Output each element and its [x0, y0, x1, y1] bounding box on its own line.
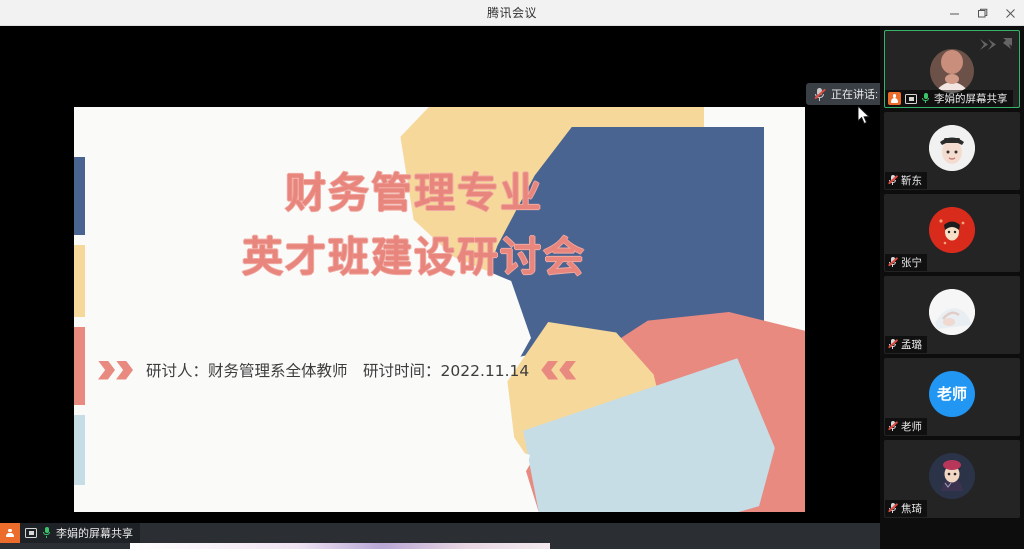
desktop-wallpaper-strip: [130, 543, 550, 549]
mic-muted-icon: [888, 421, 897, 433]
person-host-icon: [888, 92, 901, 105]
color-bar-gap: [74, 317, 85, 327]
color-bar-coral: [74, 327, 85, 405]
mic-on-icon: [921, 93, 930, 105]
windows-taskbar: 李娟的屏幕共享: [0, 523, 880, 549]
participant-tile[interactable]: 李娟的屏幕共享: [884, 30, 1020, 108]
maximize-button[interactable]: [968, 0, 996, 26]
avatar: [929, 453, 975, 499]
avatar: [929, 207, 975, 253]
participant-namebar: 老师: [885, 418, 927, 435]
chevron-left-icon: [541, 361, 558, 380]
participant-name: 焦琦: [901, 501, 922, 516]
participant-tile[interactable]: 焦琦: [884, 440, 1020, 518]
monitor-share-icon: [905, 94, 917, 104]
window-controls: [940, 0, 1024, 26]
close-button[interactable]: [996, 0, 1024, 26]
app-root: 腾讯会议: [0, 0, 1024, 549]
avatar: [929, 289, 975, 335]
window-title: 腾讯会议: [487, 4, 537, 21]
participant-namebar: 孟璐: [885, 336, 927, 353]
color-bar-navy: [74, 157, 85, 235]
color-bar-lightblue: [74, 415, 85, 485]
avatar-initials: 老师: [937, 383, 967, 404]
monitor-share-icon: [25, 528, 37, 538]
person-host-icon: [0, 523, 20, 543]
slide-title-line-2: 英才班建设研讨会: [154, 226, 674, 290]
avatar: [930, 49, 974, 93]
chevron-left-icon: [559, 361, 576, 380]
participant-namebar: 焦琦: [885, 500, 927, 517]
participant-name: 孟璐: [901, 337, 922, 352]
participant-namebar: 李娟的屏幕共享: [885, 90, 1013, 107]
chevron-right-icon: [116, 361, 133, 380]
mouse-cursor: [858, 106, 871, 130]
mic-muted-icon: [888, 339, 897, 351]
participant-name: 张宁: [901, 255, 922, 270]
color-bar-gap: [74, 235, 85, 245]
participant-namebar: 张宁: [885, 254, 927, 271]
avatar: [929, 125, 975, 171]
participant-name: 老师: [901, 419, 922, 434]
mic-muted-icon: [888, 257, 897, 269]
taskbar-share-label: 李娟的屏幕共享: [56, 525, 133, 541]
chevron-right-icon-group: [98, 361, 134, 380]
chevron-left-icon-group: [541, 361, 577, 380]
color-bar-yellow: [74, 245, 85, 317]
participant-sidebar: 李娟的屏幕共享 靳东: [880, 26, 1024, 549]
window-titlebar: 腾讯会议: [0, 0, 1024, 26]
color-bar-gap: [74, 405, 85, 415]
speaking-indicator: 正在讲话: 李娟: [806, 83, 880, 105]
participant-name: 靳东: [901, 173, 922, 188]
slide-subtitle-row: 研讨人：财务管理系全体教师 研讨时间：2022.11.14: [98, 359, 638, 381]
slide-color-bars: [74, 157, 85, 485]
taskbar-share-item[interactable]: 李娟的屏幕共享: [0, 523, 140, 543]
chevron-right-icon: [98, 361, 115, 380]
mic-muted-icon: [888, 175, 897, 187]
shared-screen-stage: 财务管理专业 英才班建设研讨会 研讨人：财务管理系全体教师 研讨时间：2022.…: [0, 26, 880, 523]
avatar: 老师: [929, 371, 975, 417]
participant-tile[interactable]: 孟璐: [884, 276, 1020, 354]
shared-slide: 财务管理专业 英才班建设研讨会 研讨人：财务管理系全体教师 研讨时间：2022.…: [74, 107, 805, 512]
slide-title-line-1: 财务管理专业: [154, 162, 674, 226]
minimize-button[interactable]: [940, 0, 968, 26]
slide-title-block: 财务管理专业 英才班建设研讨会: [154, 162, 674, 289]
mic-on-icon: [42, 527, 51, 539]
slide-subtitle-text: 研讨人：财务管理系全体教师 研讨时间：2022.11.14: [146, 359, 529, 381]
participant-name: 李娟的屏幕共享: [934, 91, 1008, 106]
mic-muted-icon: [814, 88, 825, 101]
participant-tile[interactable]: 老师 老师: [884, 358, 1020, 436]
mic-muted-icon: [888, 503, 897, 515]
share-arrows-icon: [979, 37, 1013, 52]
participant-tile[interactable]: 张宁: [884, 194, 1020, 272]
participant-tile[interactable]: 靳东: [884, 112, 1020, 190]
speaking-label: 正在讲话: 李娟: [831, 86, 880, 102]
participant-namebar: 靳东: [885, 172, 927, 189]
